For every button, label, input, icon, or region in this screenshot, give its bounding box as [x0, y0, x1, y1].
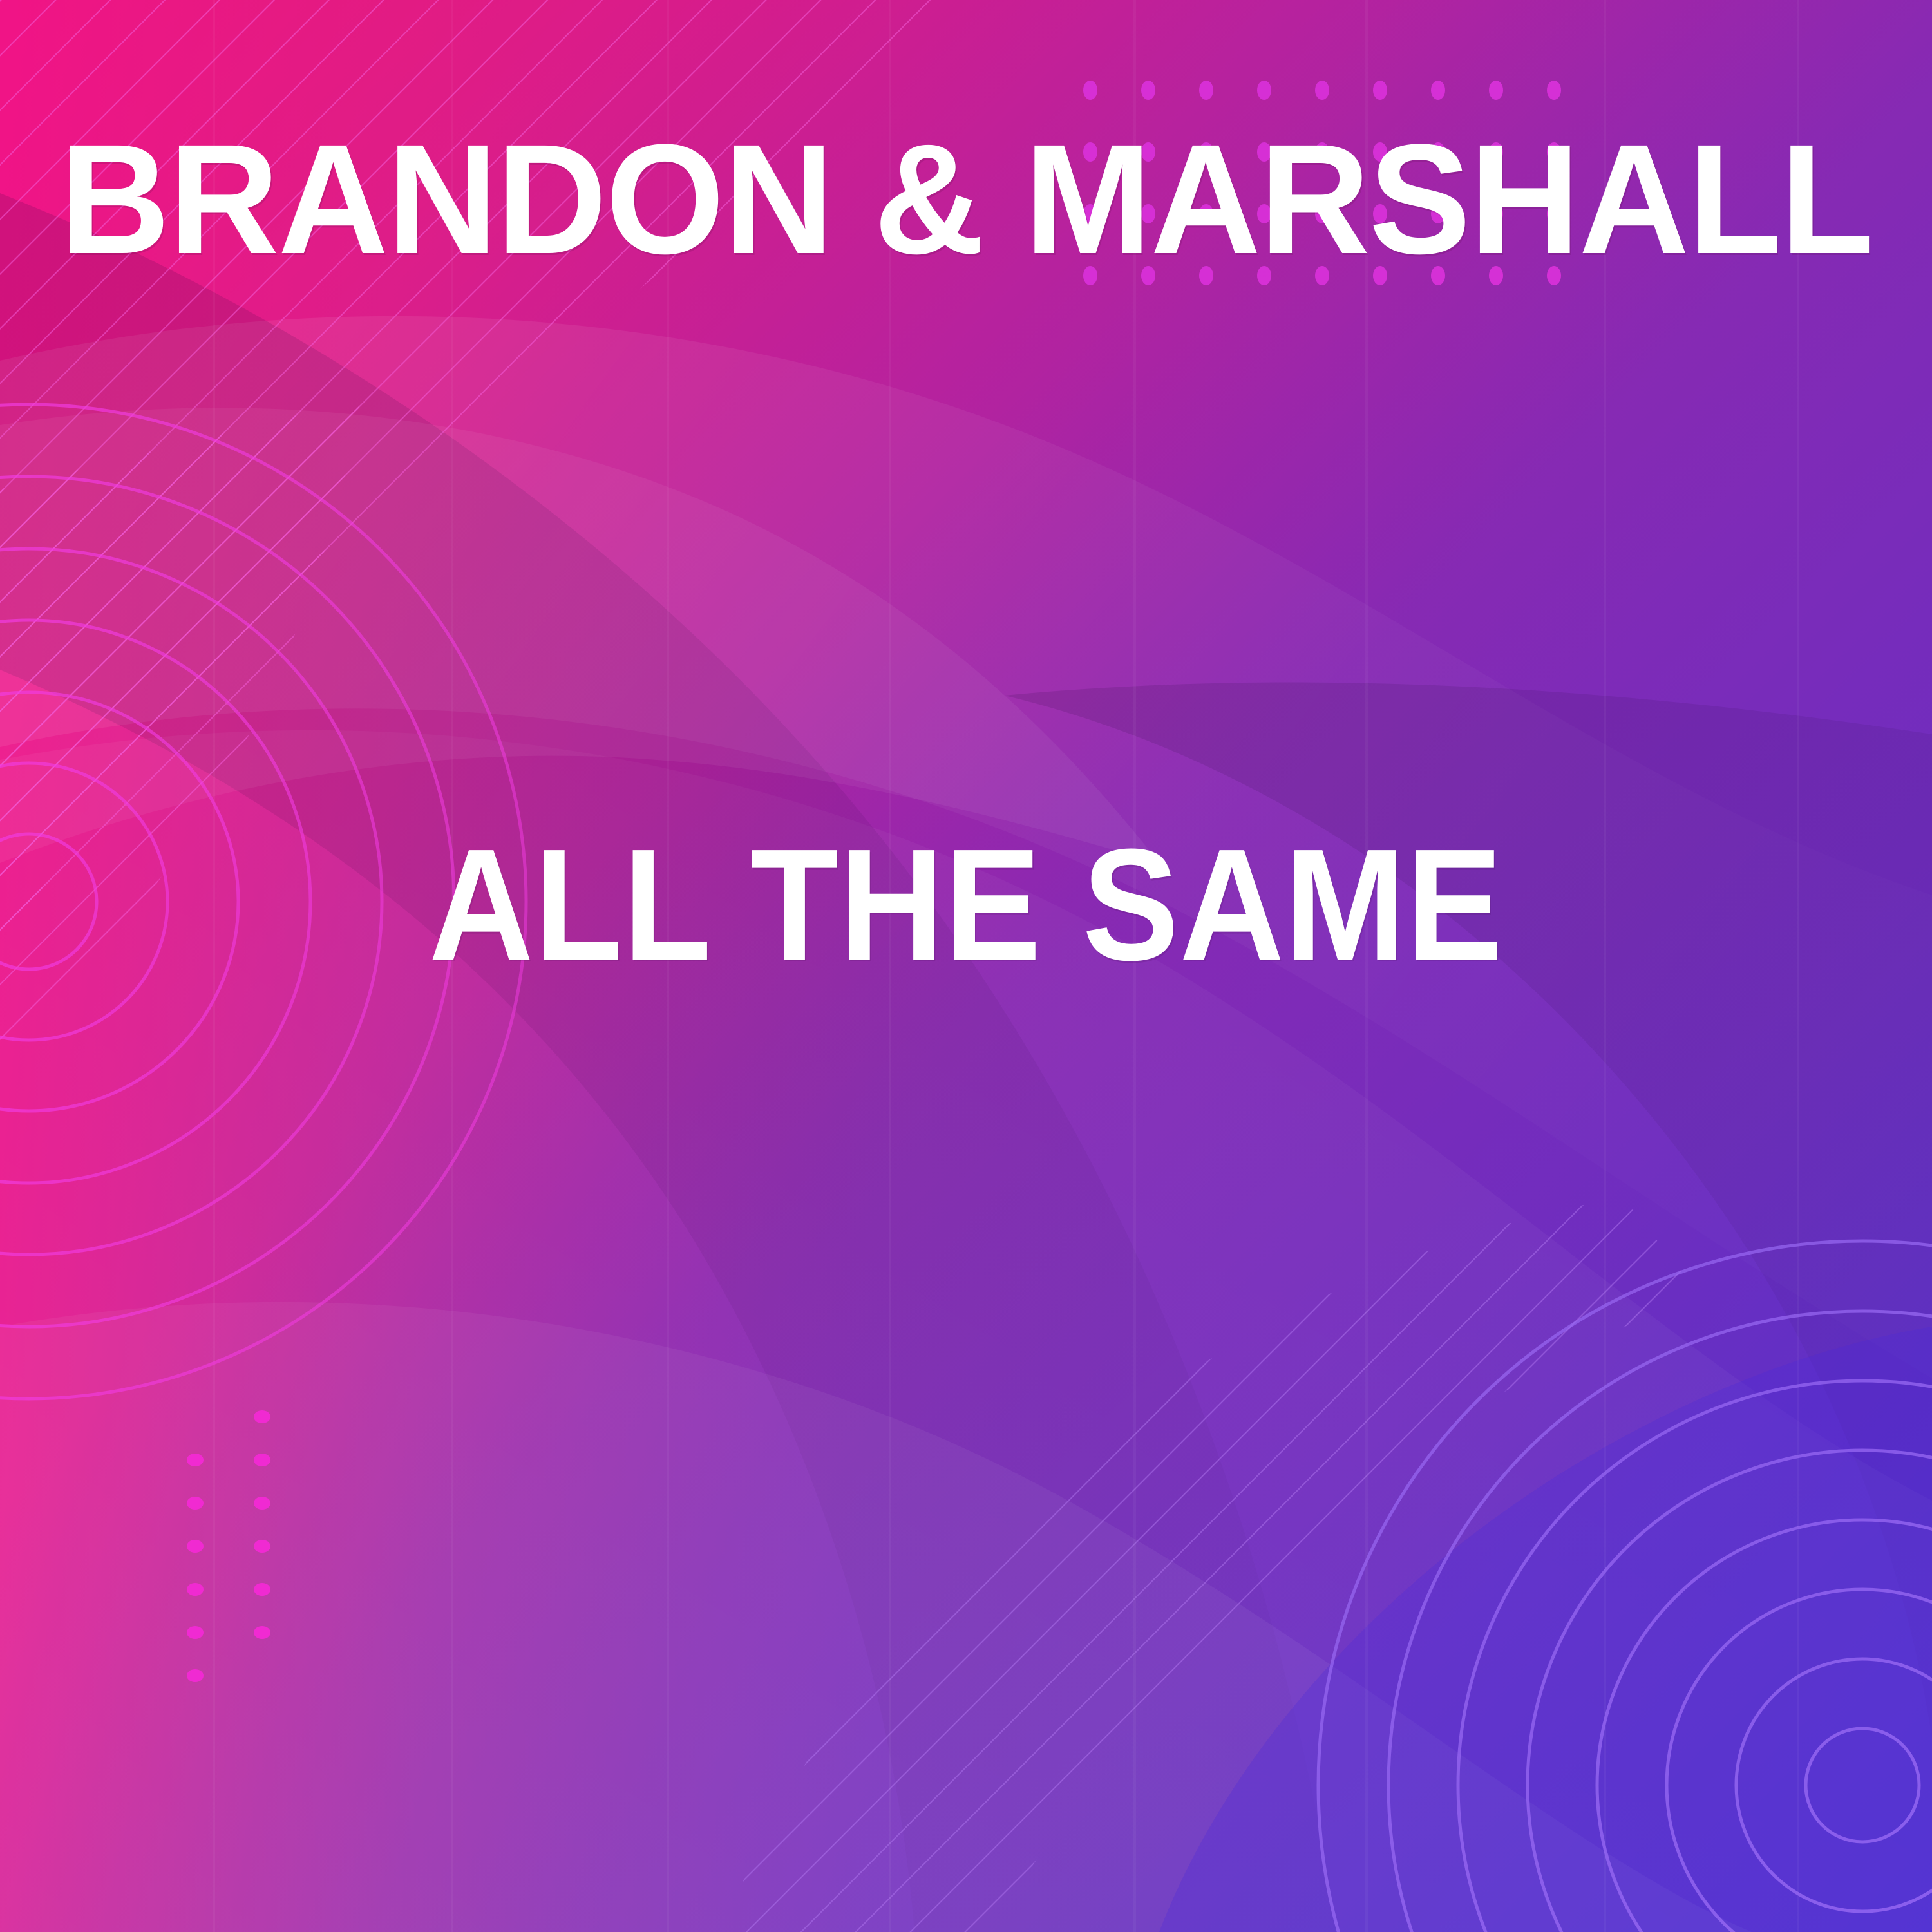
grid-dot — [1489, 80, 1503, 100]
grid-dot — [1083, 266, 1097, 285]
background-artwork — [0, 0, 1932, 1932]
grid-dot — [1083, 80, 1097, 100]
column-dot — [187, 1540, 204, 1553]
column-dot — [254, 1583, 270, 1596]
grid-dot — [1431, 80, 1445, 100]
grid-dot — [1141, 142, 1155, 162]
grid-dot — [1373, 204, 1387, 223]
grid-dot — [1431, 266, 1445, 285]
column-dot — [187, 1669, 204, 1682]
grid-dot — [1547, 204, 1561, 223]
column-dot — [254, 1626, 270, 1639]
column-dot — [254, 1410, 270, 1423]
column-dot — [254, 1497, 270, 1510]
grid-dot — [1199, 204, 1213, 223]
column-dot — [187, 1626, 204, 1639]
grid-dot — [1431, 204, 1445, 223]
grid-dot — [1141, 80, 1155, 100]
grid-dot — [1547, 80, 1561, 100]
grid-dot — [1257, 204, 1271, 223]
album-cover-artwork: BRANDON & MARSHALL ALL THE SAME — [0, 0, 1932, 1932]
grid-dot — [1315, 266, 1329, 285]
column-dot — [187, 1454, 204, 1466]
grid-dot — [1489, 204, 1503, 223]
grid-dot — [1199, 80, 1213, 100]
grid-dot — [1431, 142, 1445, 162]
grid-dot — [1489, 142, 1503, 162]
grid-dot — [1373, 266, 1387, 285]
grid-dot — [1083, 204, 1097, 223]
column-dot — [254, 1454, 270, 1466]
column-dot — [187, 1497, 204, 1510]
grid-dot — [1373, 142, 1387, 162]
grid-dot — [1199, 266, 1213, 285]
grid-dot — [1141, 204, 1155, 223]
grid-dot — [1141, 266, 1155, 285]
column-dot — [254, 1540, 270, 1553]
grid-dot — [1315, 80, 1329, 100]
grid-dot — [1373, 80, 1387, 100]
grid-dot — [1489, 266, 1503, 285]
column-dot — [187, 1583, 204, 1596]
grid-dot — [1199, 142, 1213, 162]
grid-dot — [1547, 266, 1561, 285]
grid-dot — [1547, 142, 1561, 162]
grid-dot — [1257, 142, 1271, 162]
grid-dot — [1257, 266, 1271, 285]
grid-dot — [1315, 142, 1329, 162]
grid-dot — [1315, 204, 1329, 223]
grid-dot — [1083, 142, 1097, 162]
grid-dot — [1257, 80, 1271, 100]
